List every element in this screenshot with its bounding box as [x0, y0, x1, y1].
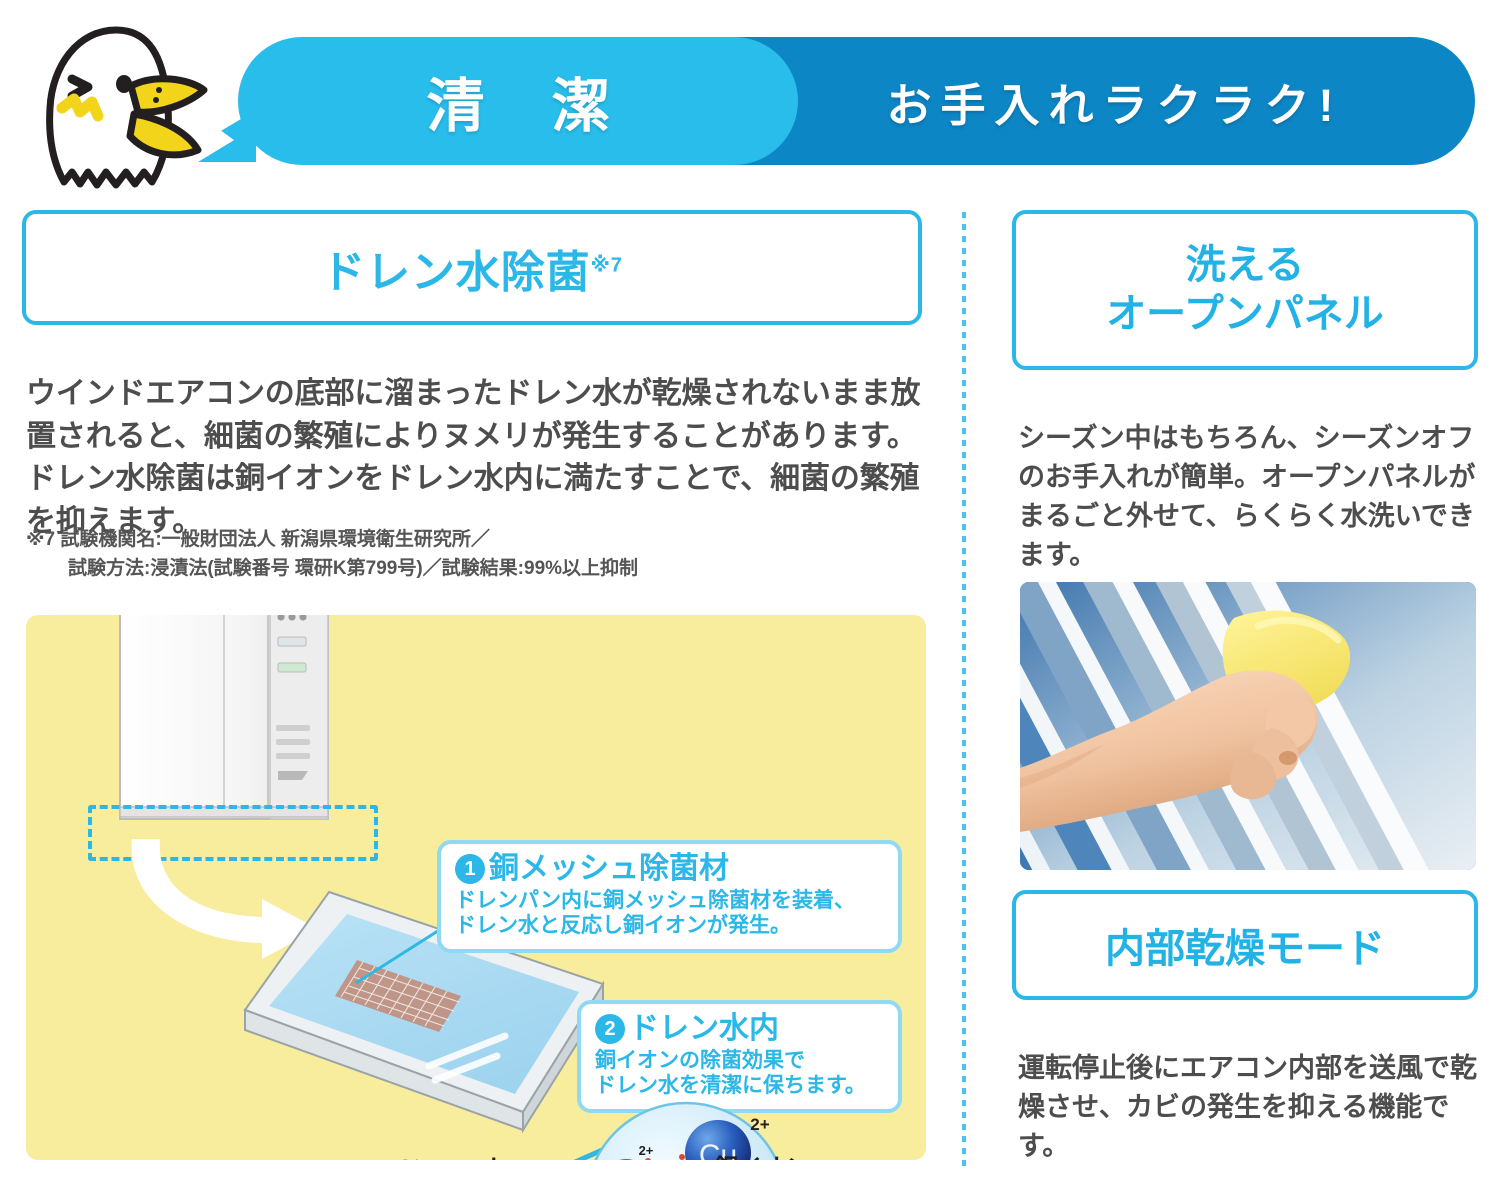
- column-divider: [962, 212, 966, 1172]
- callout-2-heading: 2 ドレン水内: [595, 1012, 884, 1046]
- page-header: 清 潔 お手入れラクラク!: [0, 0, 1500, 200]
- drain-sterilization-illustration: 1 銅メッシュ除菌材 ドレンパン内に銅メッシュ除菌材を装着、 ドレン水と反応し銅…: [26, 615, 926, 1160]
- footnote-line-2: 試験方法:浸漬法(試験番号 環研K第799号)／試験結果:99%以上抑制: [26, 555, 906, 584]
- drain-lead-paragraph: ウインドエアコンの底部に溜まったドレン水が乾燥されないまま放置されると、細菌の繁…: [26, 373, 926, 543]
- photo-graphic: [1020, 582, 1476, 870]
- dry-mode-copy: 運転停止後にエアコン内部を送風で乾燥させ、カビの発生を抑える機能です。: [1018, 1049, 1478, 1166]
- callout-1-body-line-1: ドレンパン内に銅メッシュ除菌材を装着、: [455, 888, 884, 914]
- label-drain-water: ドレン水: [396, 1150, 508, 1160]
- left-column: ドレン水除菌※7 ウインドエアコンの底部に溜まったドレン水が乾燥されないまま放置…: [22, 210, 932, 1170]
- washable-title-line-2: オープンパネル: [1106, 292, 1384, 336]
- callout-1-heading: 1 銅メッシュ除菌材: [455, 852, 884, 886]
- callout-2-body: 銅イオンの除菌効果で ドレン水を清潔に保ちます。: [595, 1048, 884, 1099]
- right-column: 洗える オープンパネル シーズン中はもちろん、シーズンオフのお手入れが簡単。オー…: [1012, 210, 1480, 1170]
- callout-1-body: ドレンパン内に銅メッシュ除菌材を装着、 ドレン水と反応し銅イオンが発生。: [455, 888, 884, 939]
- callout-copper-mesh: 1 銅メッシュ除菌材 ドレンパン内に銅メッシュ除菌材を装着、 ドレン水と反応し銅…: [437, 840, 902, 953]
- section-title-text: ドレン水除菌: [321, 248, 590, 297]
- footnote-block: ※7 試験機関名:一般財団法人 新潟県環境衛生研究所／ 試験方法:浸漬法(試験番…: [26, 526, 906, 583]
- category-badge-label: 清 潔: [238, 37, 798, 165]
- section-title-drain-sterilization: ドレン水除菌※7: [22, 210, 922, 325]
- callout-1-number: 1: [455, 854, 485, 884]
- brochure-page: 清 潔 お手入れラクラク! ドレン水除菌※7 ウインドエアコンの底部に溜まったド…: [0, 0, 1500, 1200]
- footnote-marker: ※7: [590, 254, 622, 276]
- label-copper-ion: 銅イオン: [714, 1148, 810, 1160]
- washable-panel-copy: シーズン中はもちろん、シーズンオフのお手入れが簡単。オープンパネルがまるごと外せ…: [1018, 419, 1478, 575]
- svg-text:2+: 2+: [639, 1143, 654, 1158]
- washable-title-line-1: 洗える: [1186, 243, 1305, 287]
- bird-mascot-icon: [28, 22, 213, 197]
- section-title-internal-dry-mode: 内部乾燥モード: [1012, 890, 1478, 1000]
- footnote-line-1: ※7 試験機関名:一般財団法人 新潟県環境衛生研究所／: [26, 529, 490, 550]
- tagline-label: お手入れラクラク!: [800, 37, 1420, 165]
- dry-mode-title-text: 内部乾燥モード: [1105, 916, 1385, 974]
- callout-1-body-line-2: ドレン水と反応し銅イオンが発生。: [455, 913, 884, 939]
- section-title-washable-open-panel: 洗える オープンパネル: [1012, 210, 1478, 370]
- callout-2-number: 2: [595, 1014, 625, 1044]
- callout-1-title: 銅メッシュ除菌材: [489, 852, 729, 886]
- open-panel-cleaning-photo: [1020, 582, 1476, 870]
- callout-2-body-line-1: 銅イオンの除菌効果で: [595, 1048, 884, 1074]
- callout-2-title: ドレン水内: [629, 1012, 779, 1046]
- svg-text:2+: 2+: [750, 1115, 769, 1134]
